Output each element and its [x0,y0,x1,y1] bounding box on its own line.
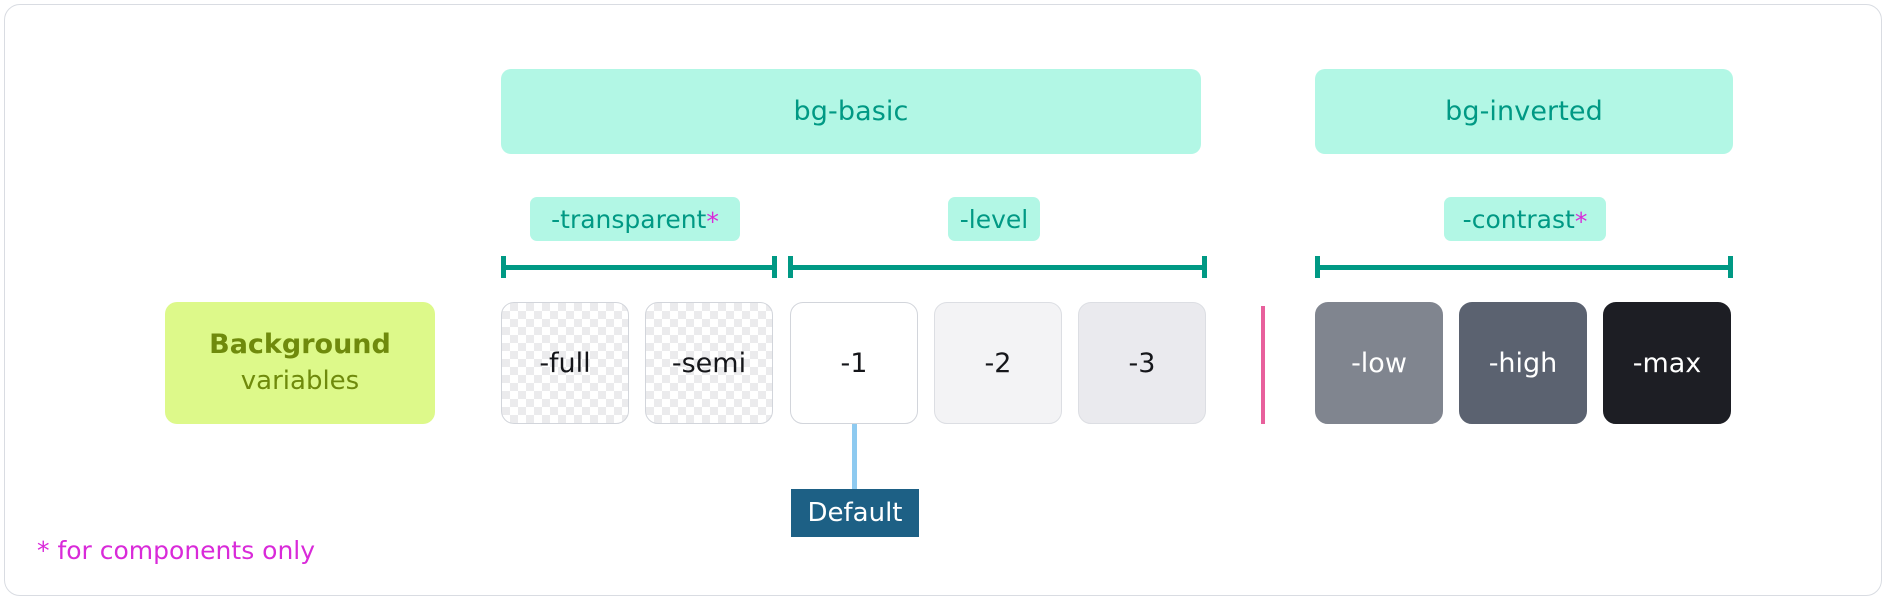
swatch-bg-basic-level-1[interactable]: -1 [790,302,918,424]
group-divider [1261,306,1265,424]
swatch-label: -full [539,348,590,379]
swatch-bg-basic-transparent-semi[interactable]: -semi [645,302,773,424]
swatch-label: -semi [672,348,746,379]
swatch-label: -low [1351,348,1407,379]
bracket-bar [1315,265,1733,270]
swatch-bg-basic-level-3[interactable]: -3 [1078,302,1206,424]
bracket-bar [501,265,777,270]
swatch-bg-basic-level-2[interactable]: -2 [934,302,1062,424]
swatch-label: -high [1489,348,1558,379]
subgroup-label-transparent: -transparent* [530,197,740,241]
footnote-star-icon: * [706,209,719,234]
swatch-bg-inverted-contrast-high[interactable]: -high [1459,302,1587,424]
bracket-cap-right [772,256,777,278]
legend-chip-background-variables: Background variables [165,302,435,424]
subgroup-label-text: -contrast [1463,205,1575,234]
range-bracket-contrast [1315,256,1733,278]
swatch-label: -2 [985,348,1012,379]
subgroup-label-text: -level [960,205,1028,234]
subgroup-label-level: -level [948,197,1040,241]
group-header-bg-inverted: bg-inverted [1315,69,1733,154]
diagram-card: bg-basic bg-inverted -transparent* -leve… [4,4,1882,596]
callout-connector-line [852,424,857,489]
swatch-bg-inverted-contrast-max[interactable]: -max [1603,302,1731,424]
swatch-label: -max [1633,348,1702,379]
legend-title: Background [209,327,391,363]
swatch-bg-inverted-contrast-low[interactable]: -low [1315,302,1443,424]
legend-subtitle: variables [241,364,359,399]
swatch-bg-basic-transparent-full[interactable]: -full [501,302,629,424]
group-header-bg-basic: bg-basic [501,69,1201,154]
group-header-label: bg-basic [794,96,909,127]
range-bracket-level [788,256,1207,278]
range-bracket-transparent [501,256,777,278]
default-badge-label: Default [808,498,903,528]
bracket-cap-right [1728,256,1733,278]
subgroup-label-text: -transparent [551,205,706,234]
swatch-label: -1 [841,348,868,379]
default-badge: Default [791,489,919,537]
swatch-label: -3 [1129,348,1156,379]
group-header-label: bg-inverted [1445,96,1603,127]
bracket-cap-right [1202,256,1207,278]
bracket-bar [788,265,1207,270]
footnote-star-icon: * [1575,209,1588,234]
footnote-text: * for components only [37,536,315,565]
subgroup-label-contrast: -contrast* [1444,197,1606,241]
